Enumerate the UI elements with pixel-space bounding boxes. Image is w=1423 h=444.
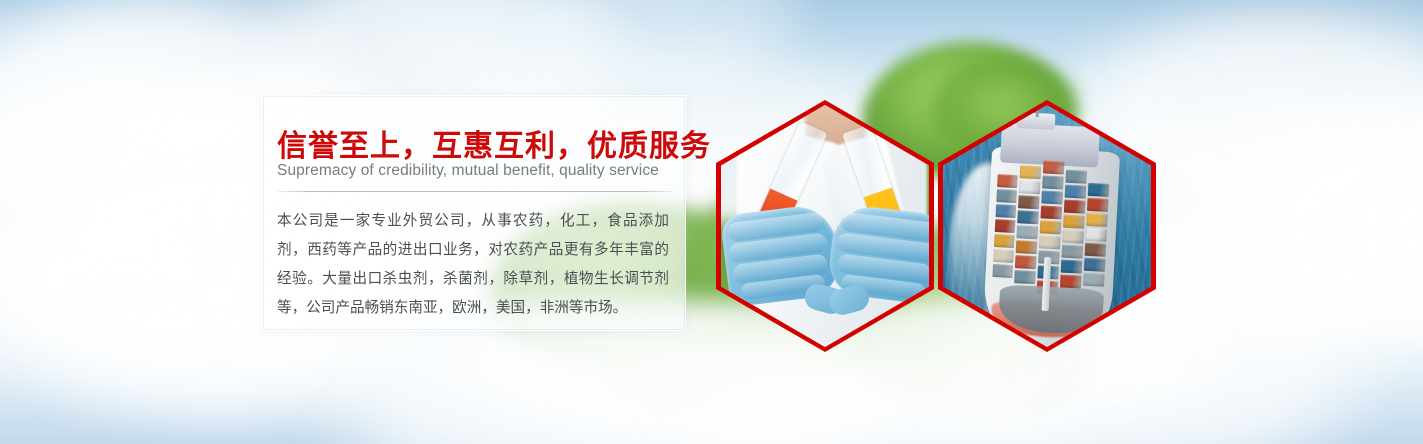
shipping-container <box>1062 230 1084 244</box>
shipping-container <box>994 234 1015 248</box>
shipping-container <box>1085 243 1107 257</box>
shipping-container <box>1017 210 1039 224</box>
ship-foredeck <box>998 284 1104 335</box>
promo-banner: 信誉至上，互惠互利，优质服务 Supremacy of credibility,… <box>0 0 1423 444</box>
shipping-container <box>995 219 1016 233</box>
company-description: 本公司是一家专业外贸公司，从事农药，化工，食品添加剂，西药等产品的进出口业务，对… <box>277 206 669 322</box>
shipping-container <box>997 174 1018 188</box>
shipping-container <box>1065 185 1087 199</box>
shipping-container <box>1043 160 1065 174</box>
shipping-container <box>1060 275 1082 289</box>
shipping-container <box>992 264 1013 278</box>
intro-text-panel: 信誉至上，互惠互利，优质服务 Supremacy of credibility,… <box>262 95 686 331</box>
shipping-container <box>1016 225 1038 239</box>
shipping-container <box>993 249 1014 263</box>
gloved-hand-left <box>721 203 842 308</box>
shipping-container <box>1041 190 1063 204</box>
shipping-container <box>995 204 1016 218</box>
shipping-container <box>1061 245 1083 259</box>
shipping-container <box>1016 240 1038 254</box>
shipping-container <box>1084 258 1106 272</box>
shipping-container <box>1018 195 1040 209</box>
banner-headline: 信誉至上，互惠互利，优质服务 <box>277 121 711 165</box>
shipping-container <box>1064 200 1086 214</box>
gloved-hand-right <box>826 203 929 305</box>
shipping-container <box>1086 213 1108 227</box>
shipping-container <box>1020 165 1042 179</box>
shipping-container <box>1088 183 1110 197</box>
shipping-container <box>1085 228 1107 242</box>
shipping-container <box>1061 260 1083 274</box>
shipping-container <box>1015 255 1037 269</box>
shipping-container <box>1063 215 1085 229</box>
panel-divider <box>277 191 673 192</box>
shipping-container <box>1014 270 1036 284</box>
shipping-container <box>1040 205 1062 219</box>
shipping-container <box>1042 175 1064 189</box>
container-stack <box>992 158 1113 298</box>
shipping-container <box>1083 273 1105 287</box>
banner-subheadline: Supremacy of credibility, mutual benefit… <box>277 162 659 180</box>
shipping-container <box>1039 235 1061 249</box>
shipping-container <box>1087 198 1109 212</box>
shipping-container <box>1065 170 1087 184</box>
shipping-container <box>1019 180 1041 194</box>
shipping-container <box>1040 220 1062 234</box>
shipping-container <box>996 189 1017 203</box>
